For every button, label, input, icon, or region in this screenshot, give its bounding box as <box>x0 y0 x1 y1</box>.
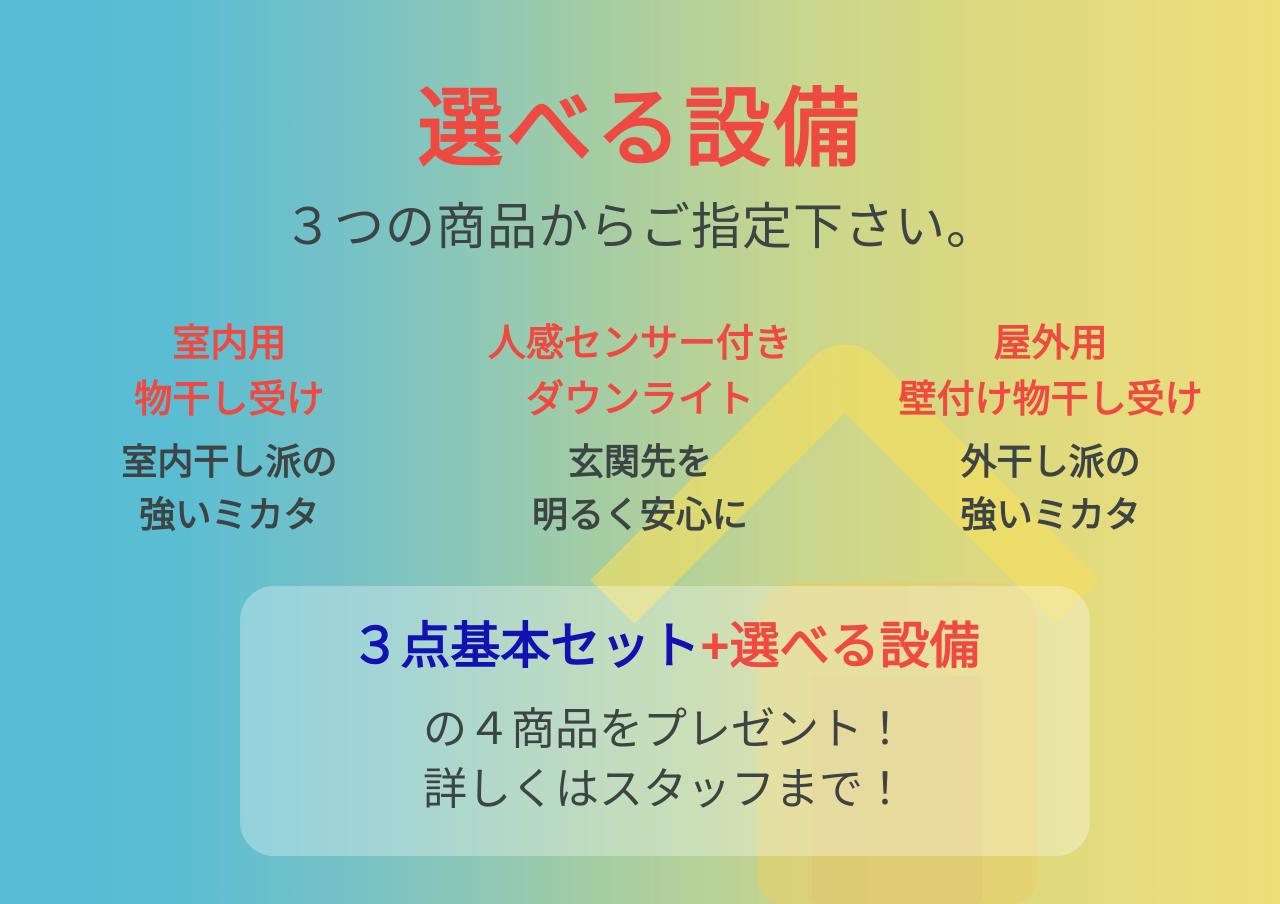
option-desc-line2: 強いミカタ <box>28 489 431 541</box>
promo-line-2: 詳しくはスタッフまで！ <box>240 760 1090 820</box>
promo-set-label: ３点基本セット <box>350 618 700 674</box>
page-title: 選べる設備 <box>0 84 1280 175</box>
option-card-indoor[interactable]: 室内用 物干し受け 室内干し派の 強いミカタ <box>24 316 435 541</box>
promo-line-1: の４商品をプレゼント！ <box>240 700 1090 760</box>
promo-plus-label: + <box>700 618 729 674</box>
option-title-indoor: 室内用 物干し受け <box>28 316 431 428</box>
option-desc-indoor: 室内干し派の 強いミカタ <box>28 436 431 540</box>
option-title-downlight: 人感センサー付き ダウンライト <box>439 316 842 428</box>
option-title-line2: 壁付け物干し受け <box>849 372 1252 428</box>
option-title-line2: ダウンライト <box>439 372 842 428</box>
promo-headline: ３点基本セット+選べる設備 <box>240 616 1090 676</box>
option-title-line1: 人感センサー付き <box>439 316 842 372</box>
option-card-outdoor[interactable]: 屋外用 壁付け物干し受け 外干し派の 強いミカタ <box>845 316 1256 541</box>
option-desc-line1: 外干し派の <box>849 436 1252 488</box>
option-desc-line2: 明るく安心に <box>439 489 842 541</box>
option-list: 室内用 物干し受け 室内干し派の 強いミカタ 人感センサー付き ダウンライト 玄… <box>0 316 1280 541</box>
option-title-line1: 屋外用 <box>849 316 1252 372</box>
option-desc-line2: 強いミカタ <box>849 489 1252 541</box>
promo-equipment-label: 選べる設備 <box>730 618 980 674</box>
page-subtitle: ３つの商品からご指定下さい。 <box>0 200 1280 255</box>
option-title-line1: 室内用 <box>28 316 431 372</box>
option-desc-line1: 室内干し派の <box>28 436 431 488</box>
promo-poster: 選べる設備 ３つの商品からご指定下さい。 室内用 物干し受け 室内干し派の 強い… <box>0 0 1280 904</box>
option-desc-outdoor: 外干し派の 強いミカタ <box>849 436 1252 540</box>
option-title-line2: 物干し受け <box>28 372 431 428</box>
option-card-downlight[interactable]: 人感センサー付き ダウンライト 玄関先を 明るく安心に <box>435 316 846 541</box>
option-title-outdoor: 屋外用 壁付け物干し受け <box>849 316 1252 428</box>
option-desc-downlight: 玄関先を 明るく安心に <box>439 436 842 540</box>
option-desc-line1: 玄関先を <box>439 436 842 488</box>
promo-body-text: の４商品をプレゼント！ 詳しくはスタッフまで！ <box>240 700 1090 820</box>
